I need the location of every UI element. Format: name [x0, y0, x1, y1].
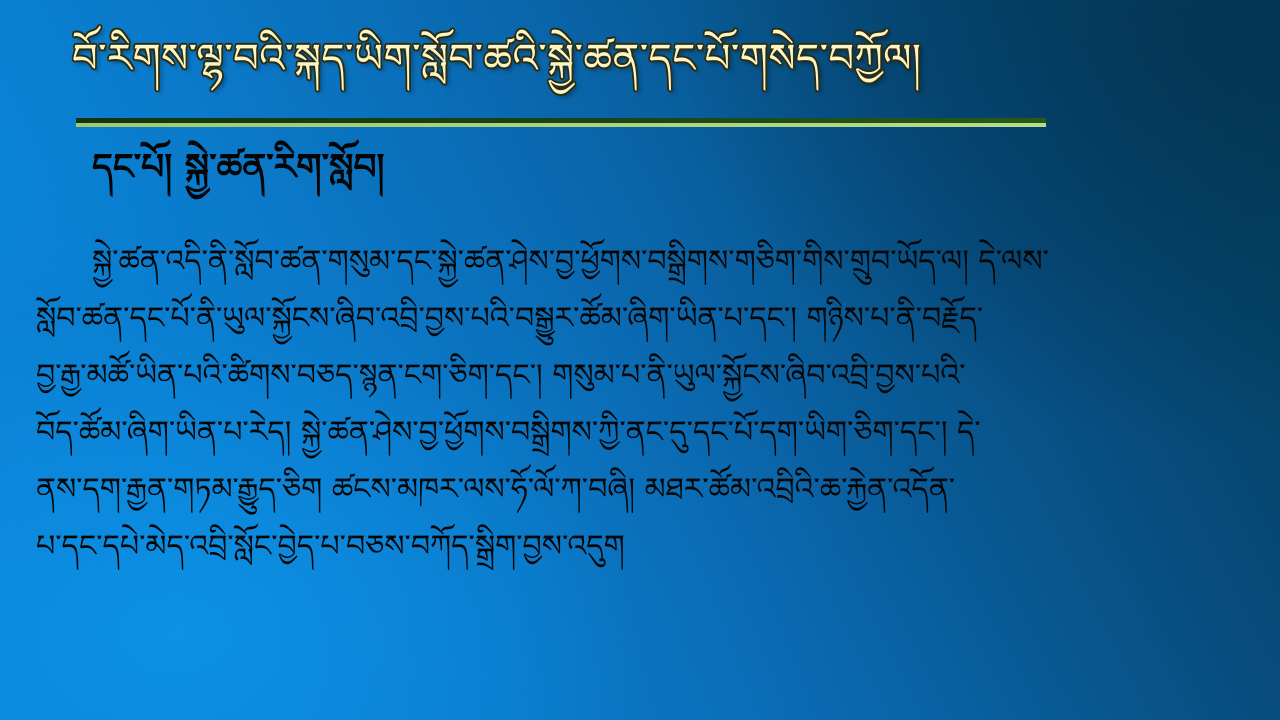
body-line: བྱ་རྒྱ་མཚོ་ཡིན་པའི་ཚིགས་བཅད་སྙན་ངག་ཅིག་ད… [36, 347, 1248, 404]
slide-body-text: སྐྱེ་ཚན་འདི་ནི་སློབ་ཚན་གསུམ་དང་སྐྱེ་ཚན་ཤ… [36, 233, 1248, 575]
slide-title: བོ་རིགས་ལྷ་བའི་སྐད་ཡིག་སློབ་ཚའི་སྐྱེ་ཚན་… [72, 36, 1072, 82]
slide-title-block: བོ་རིགས་ལྷ་བའི་སྐད་ཡིག་སློབ་ཚའི་སྐྱེ་ཚན་… [72, 36, 1072, 82]
divider-light-band [76, 123, 1046, 127]
presentation-slide: བོ་རིགས་ལྷ་བའི་སྐད་ཡིག་སློབ་ཚའི་སྐྱེ་ཚན་… [0, 0, 1280, 720]
body-line: བོད་ཚོམ་ཞིག་ཡིན་པ་རེད། སྐྱེ་ཚན་ཤེས་བྱ་ཕྱ… [36, 404, 1248, 461]
body-line: པ་དང་དཔེ་མེད་འབྲི་སློང་བྱེད་པ་བཅས་བཀོད་ས… [36, 518, 1248, 575]
body-line: སྐྱེ་ཚན་འདི་ནི་སློབ་ཚན་གསུམ་དང་སྐྱེ་ཚན་ཤ… [36, 233, 1248, 290]
title-divider-rule [76, 118, 1046, 127]
section-subheading: དང་པོ། སྐྱེ་ཚན་རིག་སློབ། [92, 145, 385, 190]
body-line: སློབ་ཚན་དང་པོ་ནི་ཡུལ་སྐྱོངས་ཞིབ་འབྲི་བྱས… [36, 290, 1248, 347]
body-line: ནས་དག་རྒྱན་གཏམ་རྒྱུད་ཅིག ཚངས་མཁར་ལས་ཧོ་ལ… [36, 461, 1248, 518]
